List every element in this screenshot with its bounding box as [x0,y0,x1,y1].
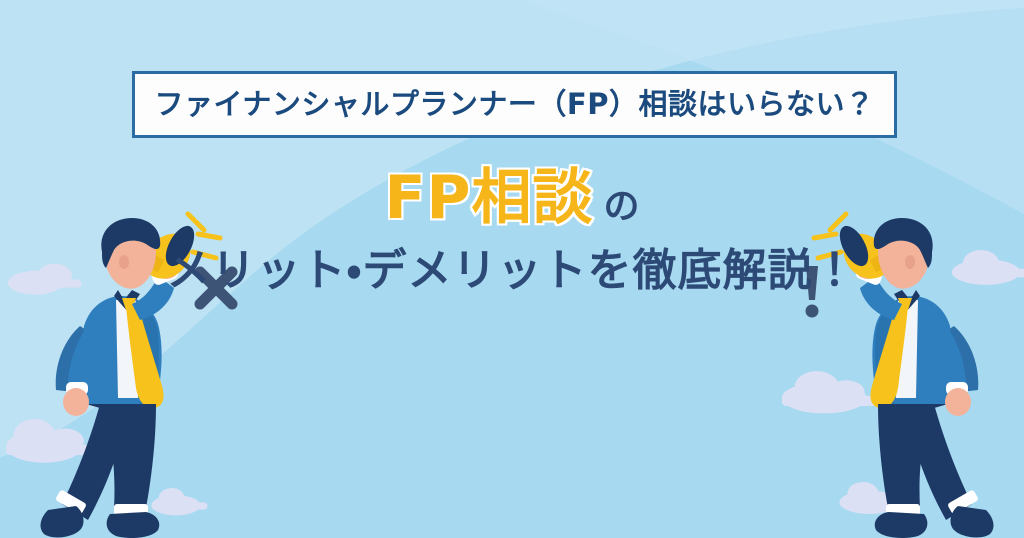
left-character-fist [63,388,89,416]
left-character-ear [119,255,129,269]
left-character-back-shoe [41,506,84,537]
banner-root: ファイナンシャルプランナー（FP）相談はいらない？ FP相談の メリット・デメリ… [0,0,1024,538]
left-character-front-shoe [107,512,160,538]
right-character-fist [945,388,971,416]
businessman-right-illustration [796,208,1006,538]
right-character-ear [905,255,915,269]
title-box: ファイナンシャルプランナー（FP）相談はいらない？ [132,71,897,138]
title-box-text: ファイナンシャルプランナー（FP）相談はいらない？ [155,90,875,119]
x-mark-icon [200,272,232,304]
right-character-front-shoe [875,512,928,538]
right-character-back-shoe [951,506,994,537]
exclamation-mark-icon [806,266,819,318]
businessman-left-illustration [28,208,238,538]
